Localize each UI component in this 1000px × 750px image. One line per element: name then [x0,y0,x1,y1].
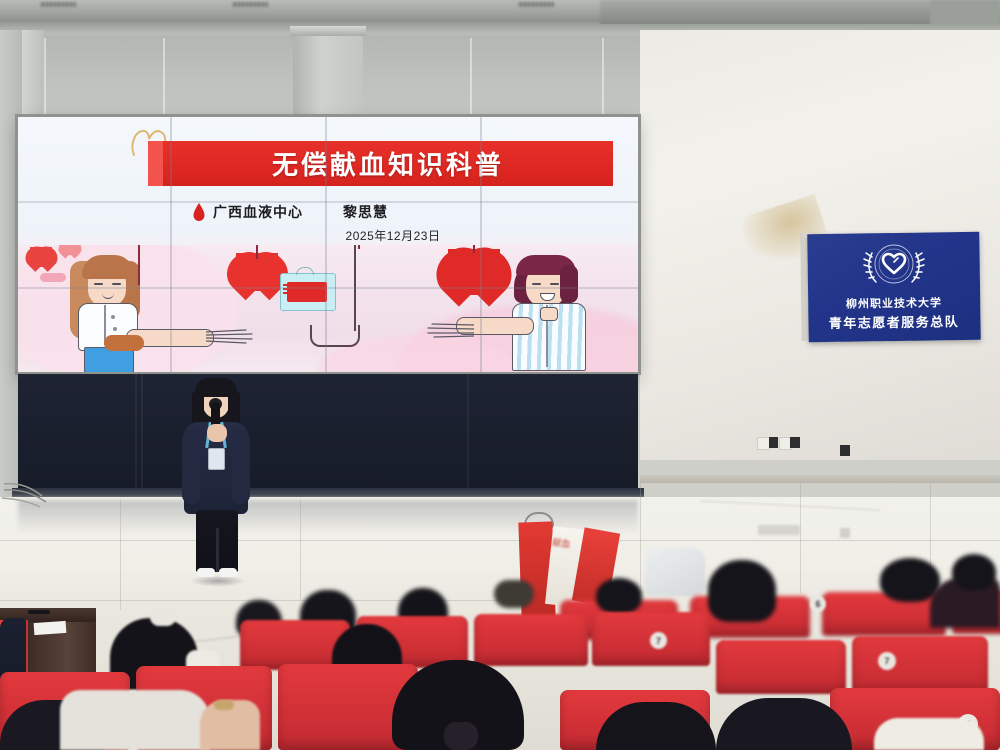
panel-seam [18,287,638,289]
presenter-arm-right [232,430,250,504]
banner-line1: 柳州职业技术大学 [808,294,980,312]
presentation-screen[interactable]: 无偿献血知识科普 广西血液中心 黎思慧 2025年12月23日 [18,117,638,372]
slide-organization: 广西血液中心 [213,202,303,222]
podium-paper [34,621,67,635]
power-socket [840,445,850,456]
seat [716,640,846,694]
presenter-hands [207,424,227,442]
bag-hanger [296,267,314,275]
panel-seam [480,117,482,372]
open-hand-icon [422,321,474,339]
panel-seam [325,117,327,372]
podium-object [28,610,50,614]
right-character [510,251,586,371]
slide-illustration [18,245,638,372]
ceiling-vent [232,2,268,7]
id-badge [208,448,225,470]
screenshot-root: 柳州职业技术大学 青年志愿者服务总队 [0,0,1000,750]
wall-seam [163,38,165,123]
presenter [178,378,258,586]
audience-head [952,554,996,590]
audience-shoulder [874,718,984,750]
ceiling-vent [40,2,76,7]
blood-bag-device [280,273,336,311]
seat-number: 7 [878,652,896,670]
socket-reflection [758,525,800,535]
blood-drop-icon [192,202,206,222]
tubing [256,245,360,249]
ceiling-vent [518,2,554,7]
banner-line2: 青年志愿者服务总队 [808,311,980,332]
tile-line [0,600,560,601]
tile-line [0,540,1000,541]
wall-seam [470,38,472,123]
floor-cables [2,480,62,510]
bracelet [214,700,234,710]
presenter-shoe-left [197,568,215,577]
plastic-bag [645,548,705,596]
audience-head [596,578,642,614]
hair-tie [444,722,478,750]
audience-arm [60,690,210,750]
panel-seam [135,374,137,490]
socket-reflection [840,528,850,538]
seat-number: 7 [650,632,667,649]
slide-subtitle: 广西血液中心 黎思慧 [213,201,573,223]
slide-presenter-name: 黎思慧 [343,202,388,222]
panel-seam [170,117,172,372]
heart-accent [40,273,66,282]
presenter-arm-left [182,430,200,504]
tubing [138,245,140,285]
left-character [70,253,144,371]
open-hand-icon [206,327,258,345]
panel-seam [18,201,638,203]
tile-line [800,483,801,593]
audience-head [494,580,534,608]
tubing [473,245,475,253]
slide-date: 2025年12月23日 [213,227,573,244]
seat [474,614,588,666]
presenter-shoe-right [219,568,237,577]
panel-seam [467,374,469,490]
audience-head [880,558,940,602]
trouser-split [216,528,219,572]
pillar-cap [290,26,366,36]
tile-line [300,500,301,600]
heart-icon [30,247,52,267]
seat-number: 6 [810,596,826,612]
stage-back-panel [18,374,638,490]
tile-line [640,483,641,593]
wall-seam [44,38,46,123]
power-socket [769,437,778,448]
tile-line [120,500,121,610]
power-socket [790,437,800,448]
audience-head [708,560,776,622]
tubing [310,325,360,347]
hair-clip [150,608,176,626]
slide-title: 无偿献血知识科普 [163,141,613,186]
heart-in-laurel-wreath-icon [848,240,940,292]
seat [852,636,988,694]
panel-seam [141,374,143,490]
wall-baseboard [640,475,1000,483]
